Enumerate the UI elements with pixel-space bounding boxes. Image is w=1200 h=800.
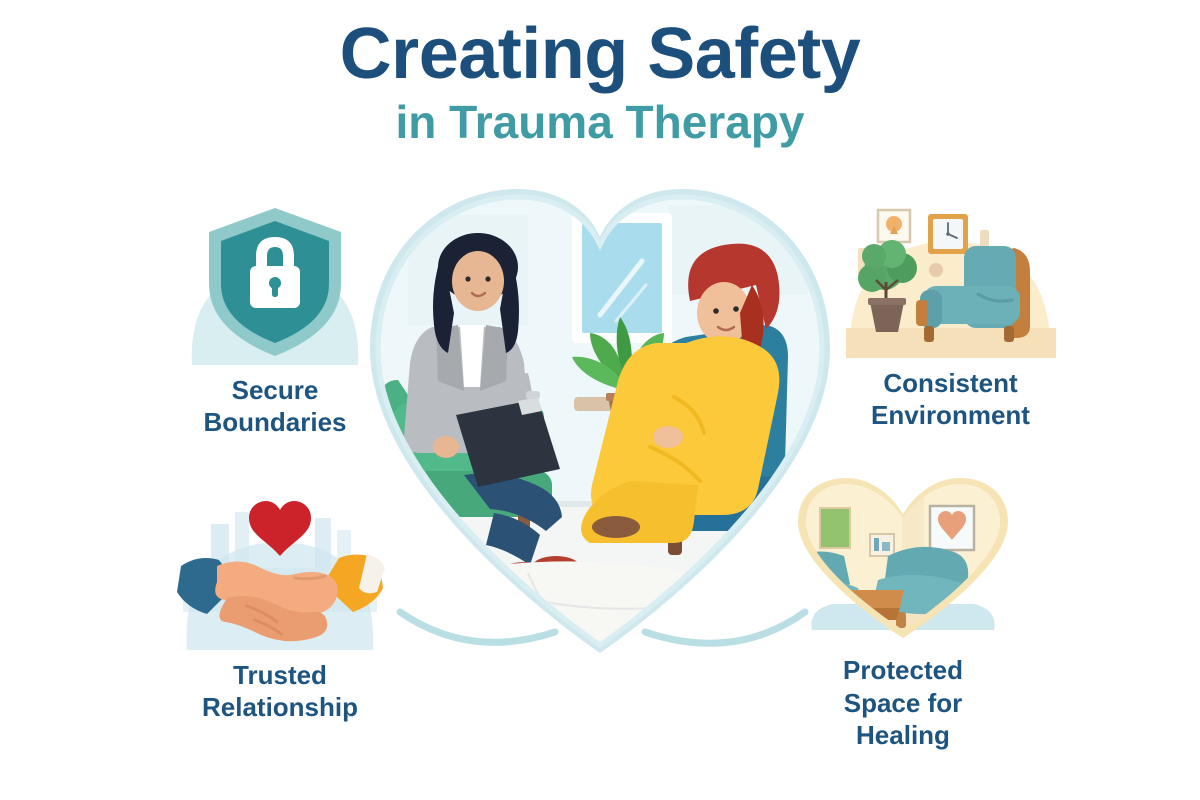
- consistent-environment-art: [828, 186, 1073, 358]
- center-heart-scene: [368, 175, 832, 655]
- client-hand: [653, 426, 683, 448]
- wall-clock: [928, 214, 968, 254]
- window-glass: [582, 223, 662, 333]
- page-title: Creating Safety in Trauma Therapy: [0, 18, 1200, 146]
- wall-art-green: [820, 508, 850, 548]
- therapist-face: [452, 251, 504, 311]
- infographic-canvas: Creating Safety in Trauma Therapy: [0, 0, 1200, 800]
- feature-secure-boundaries[interactable]: Secure Boundaries: [150, 190, 400, 438]
- title-line-secondary: in Trauma Therapy: [0, 98, 1200, 146]
- protected-space-art: [778, 472, 1028, 644]
- handshake-heart-icon: [155, 478, 405, 650]
- consistent-environment-label: Consistent Environment: [828, 368, 1073, 431]
- protected-space-label: Protected Space for Healing: [778, 654, 1028, 752]
- secure-boundaries-art: [150, 190, 400, 365]
- feature-trusted-relationship[interactable]: Trusted Relationship: [155, 478, 405, 723]
- wall-picture: [878, 210, 910, 242]
- trusted-relationship-art: [155, 478, 405, 650]
- rug: [438, 561, 718, 655]
- two-armchairs-heart-frame-icon: [778, 472, 1028, 644]
- wall-art-heart: [930, 506, 974, 550]
- armchair-clock-plant-icon: [828, 186, 1073, 358]
- therapy-session-illustration: [368, 175, 832, 655]
- therapist-hand-left: [433, 436, 459, 458]
- shield-lock-icon: [150, 190, 400, 365]
- client-foot: [592, 516, 640, 538]
- therapist-shirt: [460, 325, 484, 387]
- secure-boundaries-label: Secure Boundaries: [150, 375, 400, 438]
- trusted-relationship-label: Trusted Relationship: [155, 660, 405, 723]
- title-line-primary: Creating Safety: [0, 18, 1200, 90]
- feature-protected-space[interactable]: Protected Space for Healing: [778, 472, 1028, 752]
- feature-consistent-environment[interactable]: Consistent Environment: [828, 186, 1073, 431]
